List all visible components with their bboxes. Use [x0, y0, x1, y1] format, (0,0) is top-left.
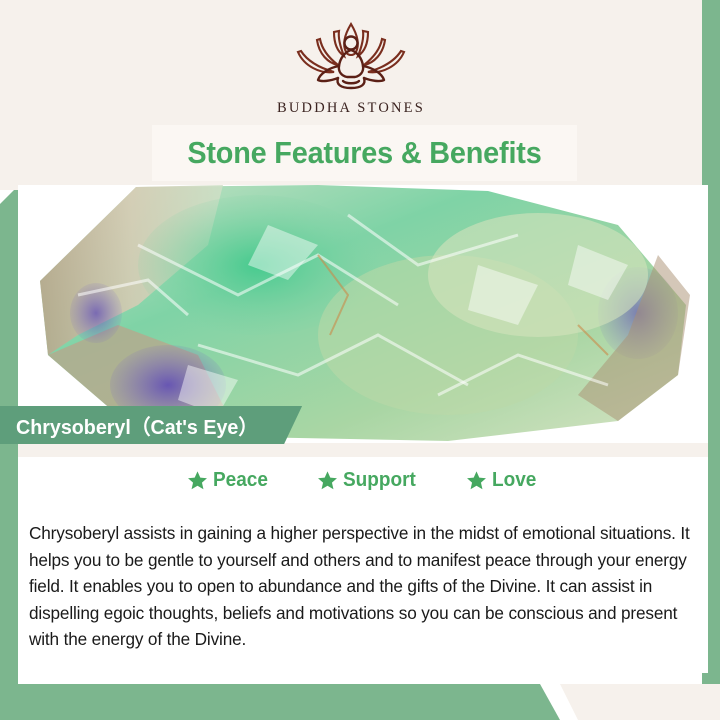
- stone-photo: [18, 185, 708, 443]
- benefit-label: Peace: [213, 469, 268, 492]
- photo-bottom-strip: [18, 443, 708, 457]
- star-icon: [317, 470, 338, 491]
- brand-name: BUDDHA STONES: [277, 100, 425, 117]
- page-title: Stone Features & Benefits: [152, 125, 577, 181]
- star-icon: [187, 470, 208, 491]
- benefit-item-peace: Peace: [187, 469, 271, 492]
- stone-info-poster: BUDDHA STONES Stone Features & Benefits …: [0, 0, 720, 720]
- stone-name-tag: Chrysoberyl（Cat's Eye）: [0, 406, 302, 444]
- lotus-meditation-icon: [276, 18, 426, 96]
- benefit-label: Support: [343, 469, 416, 492]
- benefit-item-support: Support: [317, 469, 420, 492]
- star-icon: [466, 470, 487, 491]
- benefit-item-love: Love: [466, 469, 539, 492]
- page-title-text: Stone Features & Benefits: [187, 135, 541, 171]
- brand-logo: BUDDHA STONES: [0, 18, 702, 117]
- stone-name-text: Chrysoberyl（Cat's Eye）: [16, 410, 258, 440]
- benefit-label: Love: [492, 469, 536, 492]
- stone-description: Chrysoberyl assists in gaining a higher …: [29, 520, 693, 653]
- benefits-row: Peace Support Love: [18, 462, 708, 498]
